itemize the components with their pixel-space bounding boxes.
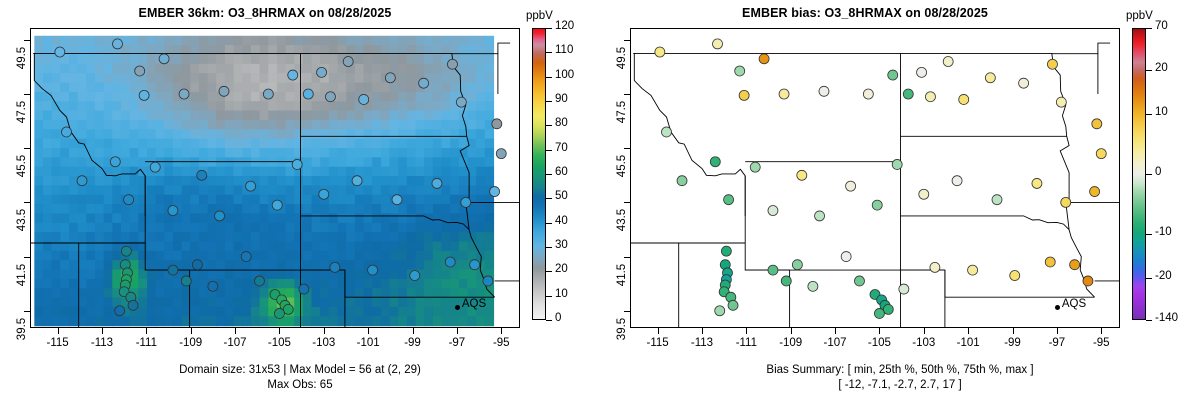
model-grid-cell	[442, 83, 451, 93]
model-grid-cell	[164, 298, 173, 308]
model-grid-cell	[303, 101, 312, 111]
model-grid-cell	[156, 251, 165, 261]
model-grid-cell	[346, 129, 355, 139]
model-grid-cell	[364, 298, 373, 308]
model-grid-cell	[268, 73, 277, 83]
model-grid-cell	[407, 204, 416, 214]
model-grid-cell	[286, 279, 295, 289]
model-grid-cell	[225, 157, 234, 167]
model-grid-cell	[242, 213, 251, 223]
station-marker[interactable]	[1019, 78, 1029, 88]
model-grid-cell	[450, 111, 459, 121]
model-grid-cell	[433, 148, 442, 158]
station-marker[interactable]	[968, 265, 978, 275]
model-grid-cell	[242, 54, 251, 64]
model-grid-cell	[164, 101, 173, 111]
model-grid-cell	[329, 176, 338, 186]
model-grid-cell	[468, 232, 477, 242]
station-marker[interactable]	[192, 260, 202, 270]
station-marker[interactable]	[197, 170, 207, 180]
station-marker[interactable]	[943, 57, 953, 67]
station-marker[interactable]	[263, 89, 273, 99]
model-grid-cell	[234, 307, 243, 317]
station-marker[interactable]	[181, 276, 191, 286]
model-grid-cell	[407, 288, 416, 298]
model-grid-cell	[329, 223, 338, 233]
model-grid-cell	[208, 36, 217, 46]
station-marker[interactable]	[274, 308, 284, 318]
model-grid-cell	[234, 176, 243, 186]
model-grid-cell	[43, 176, 52, 186]
model-grid-cell	[381, 176, 390, 186]
station-marker[interactable]	[846, 181, 856, 191]
model-grid-cell	[303, 213, 312, 223]
station-marker[interactable]	[385, 73, 395, 83]
model-grid-cell	[43, 270, 52, 280]
model-grid-cell	[407, 157, 416, 167]
model-grid-cell	[199, 241, 208, 251]
model-grid-cell	[424, 101, 433, 111]
model-grid-cell	[303, 270, 312, 280]
model-grid-cell	[390, 279, 399, 289]
station-marker[interactable]	[1096, 149, 1106, 159]
model-grid-cell	[130, 139, 139, 149]
station-marker[interactable]	[1045, 257, 1055, 267]
model-grid-cell	[251, 251, 260, 261]
station-marker[interactable]	[781, 276, 791, 286]
model-grid-cell	[286, 195, 295, 205]
model-grid-cell	[216, 54, 225, 64]
model-grid-cell	[338, 139, 347, 149]
station-marker[interactable]	[735, 66, 745, 76]
model-grid-cell	[234, 148, 243, 158]
bias-colorbar-tick-label: -140	[1155, 312, 1178, 324]
station-marker[interactable]	[288, 70, 298, 80]
station-marker[interactable]	[61, 127, 71, 137]
model-grid-cell	[433, 36, 442, 46]
station-marker[interactable]	[992, 195, 1002, 205]
model-grid-cell	[216, 307, 225, 317]
model-grid-cell	[268, 120, 277, 130]
model-grid-cell	[450, 73, 459, 83]
station-marker[interactable]	[445, 257, 455, 267]
model-grid-cell	[121, 316, 130, 326]
station-marker[interactable]	[113, 39, 123, 49]
station-marker[interactable]	[208, 281, 218, 291]
station-marker[interactable]	[470, 260, 480, 270]
model-grid-cell	[312, 241, 321, 251]
model-grid-cell	[52, 185, 61, 195]
model-grid-cell	[329, 167, 338, 177]
model-grid-cell	[390, 54, 399, 64]
model-grid-cell	[407, 195, 416, 205]
model-grid-cell	[312, 83, 321, 93]
model-grid-cell	[216, 101, 225, 111]
station-marker[interactable]	[724, 195, 734, 205]
model-grid-cell	[312, 307, 321, 317]
model-grid-cell	[303, 148, 312, 158]
model-grid-cell	[398, 279, 407, 289]
station-marker[interactable]	[215, 211, 225, 221]
station-marker[interactable]	[713, 39, 723, 49]
model-x-tick	[368, 328, 369, 334]
model-grid-cell	[34, 223, 43, 233]
model-grid-cell	[251, 111, 260, 121]
model-grid-cell	[130, 213, 139, 223]
model-grid-cell	[234, 73, 243, 83]
station-marker[interactable]	[874, 308, 884, 318]
model-grid-cell	[260, 288, 269, 298]
model-grid-cell	[329, 157, 338, 167]
model-grid-cell	[372, 185, 381, 195]
model-grid-cell	[182, 260, 191, 270]
station-marker[interactable]	[930, 262, 940, 272]
bias-map-canvas	[631, 29, 1119, 327]
station-marker[interactable]	[272, 200, 282, 210]
station-marker[interactable]	[483, 276, 493, 286]
station-marker[interactable]	[168, 206, 178, 216]
model-grid-cell	[156, 139, 165, 149]
model-grid-cell	[329, 288, 338, 298]
model-grid-cell	[485, 176, 494, 186]
station-marker[interactable]	[739, 90, 749, 100]
bias-map-plot-area[interactable]: AQS	[630, 28, 1120, 328]
station-marker[interactable]	[797, 170, 807, 180]
model-grid-cell	[216, 316, 225, 326]
model-grid-cell	[34, 139, 43, 149]
model-grid-cell	[320, 157, 329, 167]
model-grid-cell	[277, 148, 286, 158]
model-grid-cell	[225, 176, 234, 186]
model-grid-cell	[43, 157, 52, 167]
station-marker[interactable]	[985, 73, 995, 83]
model-grid-cell	[147, 64, 156, 74]
station-marker[interactable]	[115, 306, 125, 316]
model-grid-cell	[390, 36, 399, 46]
station-marker[interactable]	[139, 90, 149, 100]
model-grid-cell	[381, 129, 390, 139]
model-grid-cell	[78, 213, 87, 223]
station-marker[interactable]	[352, 176, 362, 186]
model-grid-cell	[294, 185, 303, 195]
model-grid-cell	[381, 223, 390, 233]
station-marker[interactable]	[841, 252, 851, 262]
model-grid-cell	[147, 298, 156, 308]
model-grid-cell	[225, 64, 234, 74]
model-grid-cell	[121, 120, 130, 130]
station-marker[interactable]	[1092, 119, 1102, 129]
model-grid-cell	[60, 176, 69, 186]
figure-root: EMBER 36km: O3_8HRMAX on 08/28/2025 AQS …	[0, 0, 1200, 409]
station-marker[interactable]	[903, 89, 913, 99]
model-grid-cell	[416, 36, 425, 46]
station-marker[interactable]	[710, 157, 720, 167]
model-map-plot-area[interactable]: AQS	[30, 28, 520, 328]
model-grid-cell	[156, 316, 165, 326]
station-marker[interactable]	[330, 262, 340, 272]
model-grid-cell	[52, 120, 61, 130]
station-marker[interactable]	[492, 119, 502, 129]
station-marker[interactable]	[721, 246, 731, 256]
station-marker[interactable]	[728, 300, 738, 310]
model-grid-cell	[199, 83, 208, 93]
station-marker[interactable]	[343, 57, 353, 67]
model-grid-cell	[199, 185, 208, 195]
model-grid-cell	[164, 176, 173, 186]
model-grid-cell	[173, 129, 182, 139]
model-grid-cell	[216, 260, 225, 270]
bias-x-tick-label: -113	[682, 337, 722, 349]
model-grid-cell	[60, 260, 69, 270]
model-grid-cell	[485, 64, 494, 74]
model-grid-cell	[147, 185, 156, 195]
model-x-tick	[146, 328, 147, 334]
model-grid-cell	[164, 64, 173, 74]
model-grid-cell	[398, 251, 407, 261]
model-grid-cell	[34, 157, 43, 167]
station-marker[interactable]	[952, 176, 962, 186]
model-grid-cell	[398, 204, 407, 214]
model-grid-cell	[182, 73, 191, 83]
model-grid-cell	[112, 120, 121, 130]
station-marker[interactable]	[241, 252, 251, 262]
model-grid-cell	[433, 54, 442, 64]
model-grid-cell	[52, 307, 61, 317]
model-grid-cell	[433, 204, 442, 214]
model-grid-cell	[338, 36, 347, 46]
model-grid-cell	[355, 157, 364, 167]
station-marker[interactable]	[368, 265, 378, 275]
station-marker[interactable]	[77, 176, 87, 186]
station-marker[interactable]	[819, 86, 829, 96]
station-marker[interactable]	[110, 157, 120, 167]
station-marker[interactable]	[1056, 97, 1066, 107]
station-marker[interactable]	[150, 162, 160, 172]
model-grid-cell	[260, 241, 269, 251]
model-grid-cell	[424, 185, 433, 195]
station-marker[interactable]	[1032, 178, 1042, 188]
station-marker[interactable]	[863, 89, 873, 99]
station-marker[interactable]	[410, 271, 420, 281]
station-marker[interactable]	[768, 265, 778, 275]
station-marker[interactable]	[219, 86, 229, 96]
station-marker[interactable]	[490, 187, 500, 197]
model-grid-cell	[416, 157, 425, 167]
model-grid-cell	[182, 241, 191, 251]
model-grid-cell	[468, 288, 477, 298]
model-grid-cell	[234, 241, 243, 251]
station-marker[interactable]	[1083, 276, 1093, 286]
station-marker[interactable]	[854, 276, 864, 286]
model-grid-cell	[485, 232, 494, 242]
station-marker[interactable]	[768, 206, 778, 216]
model-grid-cell	[156, 73, 165, 83]
model-grid-cell	[130, 185, 139, 195]
station-marker[interactable]	[759, 54, 769, 64]
station-marker[interactable]	[888, 70, 898, 80]
station-marker[interactable]	[1010, 271, 1020, 281]
model-grid-cell	[78, 129, 87, 139]
station-marker[interactable]	[124, 195, 134, 205]
model-grid-cell	[442, 232, 451, 242]
model-colorbar-tick-label: 40	[555, 215, 568, 227]
model-x-tick-label: -109	[171, 337, 211, 349]
model-grid-cell	[52, 204, 61, 214]
station-marker[interactable]	[135, 66, 145, 76]
model-grid-cell	[112, 176, 121, 186]
model-grid-cell	[251, 157, 260, 167]
station-marker[interactable]	[925, 92, 935, 102]
model-grid-cell	[355, 167, 364, 177]
station-marker[interactable]	[815, 211, 825, 221]
bias-x-tick-label: -95	[1081, 337, 1121, 349]
model-grid-cell	[260, 251, 269, 261]
model-grid-cell	[199, 213, 208, 223]
model-grid-cell	[34, 185, 43, 195]
station-marker[interactable]	[317, 67, 327, 77]
model-grid-cell	[294, 298, 303, 308]
station-marker[interactable]	[121, 246, 131, 256]
model-grid-cell	[190, 270, 199, 280]
station-marker[interactable]	[779, 89, 789, 99]
model-grid-cell	[277, 251, 286, 261]
model-grid-cell	[182, 157, 191, 167]
model-grid-cell	[320, 241, 329, 251]
station-marker[interactable]	[55, 47, 65, 57]
model-grid-cell	[182, 213, 191, 223]
station-marker[interactable]	[456, 97, 466, 107]
station-marker[interactable]	[917, 67, 927, 77]
model-grid-cell	[164, 148, 173, 158]
station-marker[interactable]	[899, 284, 909, 294]
station-marker[interactable]	[919, 189, 929, 199]
station-marker[interactable]	[254, 276, 264, 286]
station-marker[interactable]	[959, 94, 969, 104]
model-grid-cell	[260, 223, 269, 233]
model-grid-cell	[182, 64, 191, 74]
model-grid-cell	[234, 260, 243, 270]
model-grid-cell	[468, 213, 477, 223]
model-grid-cell	[78, 64, 87, 74]
model-grid-cell	[338, 157, 347, 167]
station-marker[interactable]	[655, 47, 665, 57]
model-grid-cell	[286, 36, 295, 46]
model-grid-cell	[485, 157, 494, 167]
station-marker[interactable]	[661, 127, 671, 137]
station-marker[interactable]	[447, 59, 457, 69]
station-marker[interactable]	[1061, 197, 1071, 207]
model-grid-cell	[95, 120, 104, 130]
station-marker[interactable]	[159, 54, 169, 64]
model-grid-cell	[476, 148, 485, 158]
station-marker[interactable]	[432, 178, 442, 188]
model-grid-cell	[164, 129, 173, 139]
model-grid-cell	[112, 129, 121, 139]
station-marker[interactable]	[128, 300, 138, 310]
station-marker[interactable]	[299, 284, 309, 294]
model-grid-cell	[199, 73, 208, 83]
station-marker[interactable]	[461, 197, 471, 207]
station-marker[interactable]	[792, 260, 802, 270]
model-grid-cell	[459, 176, 468, 186]
model-grid-cell	[450, 148, 459, 158]
station-marker[interactable]	[677, 176, 687, 186]
model-grid-cell	[199, 157, 208, 167]
station-marker[interactable]	[168, 265, 178, 275]
station-marker[interactable]	[496, 149, 506, 159]
station-marker[interactable]	[319, 189, 329, 199]
model-grid-cell	[459, 288, 468, 298]
model-grid-cell	[43, 223, 52, 233]
station-marker[interactable]	[325, 92, 335, 102]
station-marker[interactable]	[1047, 59, 1057, 69]
model-grid-cell	[329, 241, 338, 251]
model-grid-cell	[338, 176, 347, 186]
station-marker[interactable]	[808, 281, 818, 291]
model-grid-cell	[260, 185, 269, 195]
station-marker[interactable]	[872, 200, 882, 210]
model-grid-cell	[398, 307, 407, 317]
model-grid-cell	[208, 139, 217, 149]
model-colorbar-tick	[546, 320, 552, 321]
model-grid-cell	[433, 251, 442, 261]
model-grid-cell	[199, 139, 208, 149]
station-marker[interactable]	[303, 89, 313, 99]
station-marker[interactable]	[392, 195, 402, 205]
model-grid-cell	[424, 288, 433, 298]
station-marker[interactable]	[1070, 260, 1080, 270]
model-grid-cell	[346, 120, 355, 130]
model-grid-cell	[476, 167, 485, 177]
model-grid-cell	[34, 120, 43, 130]
station-marker[interactable]	[750, 162, 760, 172]
station-marker[interactable]	[715, 306, 725, 316]
model-grid-cell	[69, 204, 78, 214]
station-marker[interactable]	[246, 181, 256, 191]
model-grid-cell	[338, 279, 347, 289]
model-grid-cell	[433, 307, 442, 317]
station-marker[interactable]	[292, 159, 302, 169]
model-grid-cell	[225, 54, 234, 64]
model-grid-cell	[346, 223, 355, 233]
model-grid-cell	[52, 251, 61, 261]
model-grid-cell	[173, 139, 182, 149]
model-grid-cell	[294, 223, 303, 233]
model-grid-cell	[338, 101, 347, 111]
model-grid-cell	[364, 111, 373, 121]
station-marker[interactable]	[359, 94, 369, 104]
station-marker[interactable]	[1090, 187, 1100, 197]
station-marker[interactable]	[892, 159, 902, 169]
model-grid-cell	[364, 64, 373, 74]
model-grid-cell	[450, 279, 459, 289]
model-grid-cell	[156, 270, 165, 280]
model-grid-cell	[112, 251, 121, 261]
model-grid-cell	[424, 232, 433, 242]
model-grid-cell	[277, 139, 286, 149]
model-grid-cell	[86, 204, 95, 214]
model-grid-cell	[312, 288, 321, 298]
model-grid-cell	[407, 54, 416, 64]
model-grid-cell	[381, 279, 390, 289]
station-marker[interactable]	[179, 89, 189, 99]
model-grid-cell	[69, 279, 78, 289]
model-grid-cell	[416, 298, 425, 308]
model-grid-cell	[268, 64, 277, 74]
model-grid-cell	[242, 298, 251, 308]
station-marker[interactable]	[419, 78, 429, 88]
model-grid-cell	[234, 279, 243, 289]
